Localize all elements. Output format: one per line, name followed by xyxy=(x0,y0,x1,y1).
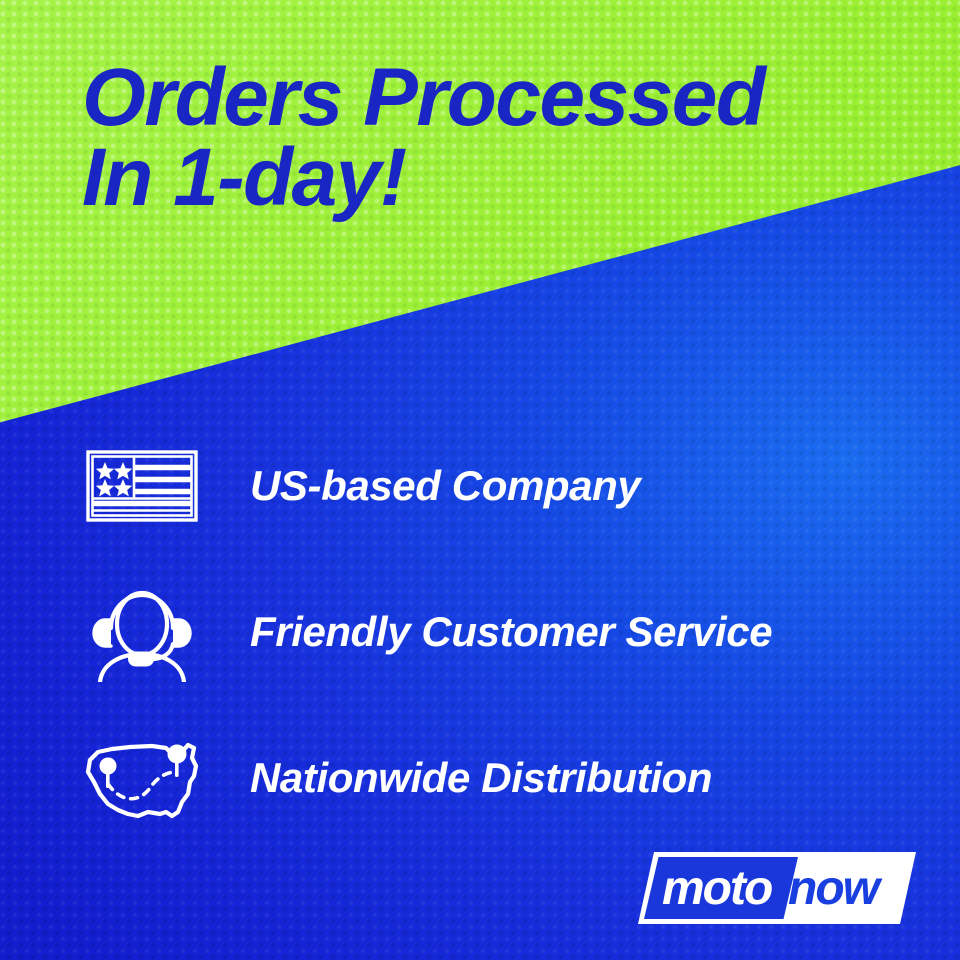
feature-item-us-based: US-based Company xyxy=(72,440,902,586)
feature-item-customer-service: Friendly Customer Service xyxy=(72,586,902,732)
headset-support-icon xyxy=(78,586,206,682)
us-flag-icon xyxy=(78,440,206,536)
feature-list: US-based Company xyxy=(72,440,902,878)
promo-banner: Orders Processed In 1-day! xyxy=(0,0,960,960)
motonow-logo[interactable]: moto now xyxy=(638,852,916,924)
logo-text-moto: moto xyxy=(662,862,772,915)
feature-label: Friendly Customer Service xyxy=(250,596,772,668)
feature-label: US-based Company xyxy=(250,450,640,522)
feature-label: Nationwide Distribution xyxy=(250,742,712,814)
logo-text-now: now xyxy=(788,862,883,915)
usa-map-route-icon xyxy=(78,732,206,828)
headline: Orders Processed In 1-day! xyxy=(82,58,912,219)
